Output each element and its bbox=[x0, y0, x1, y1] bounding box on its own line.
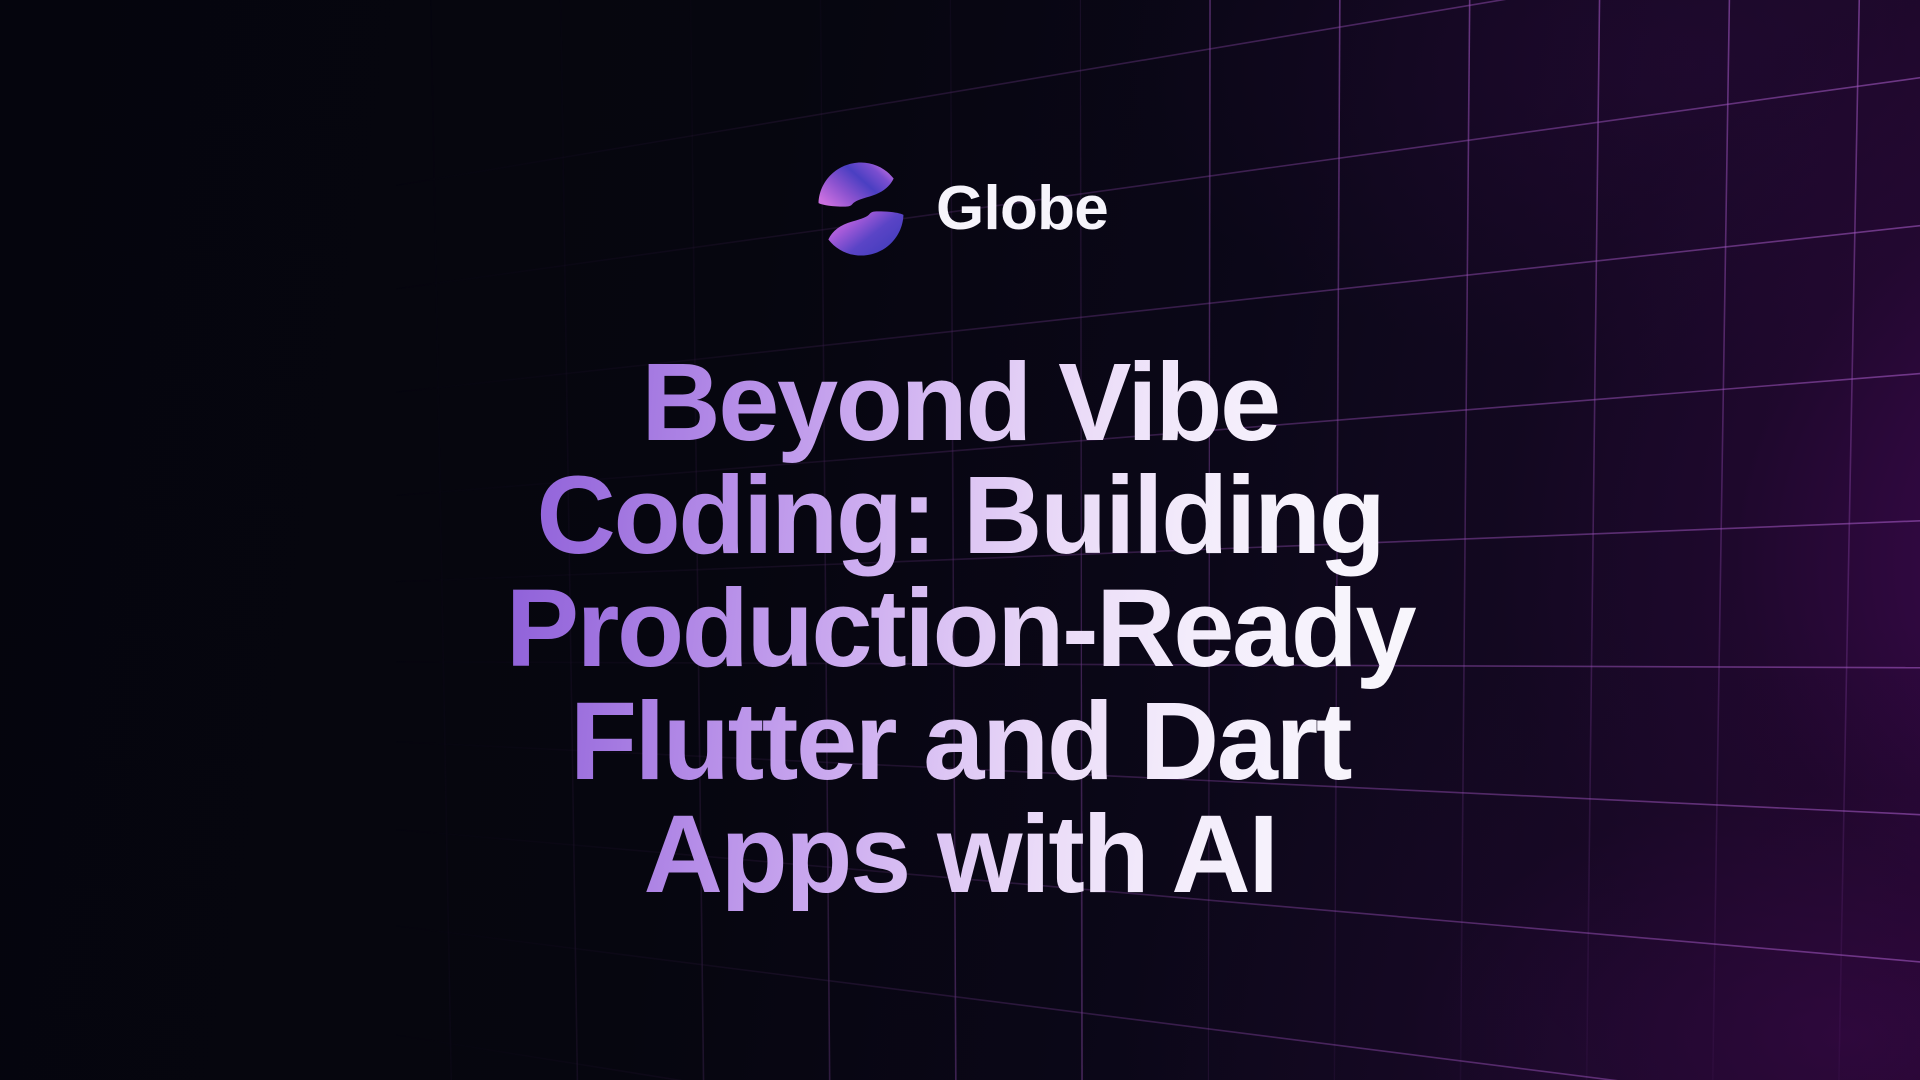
globe-s-mark-icon bbox=[812, 160, 910, 258]
brand-logo[interactable]: Globe bbox=[0, 160, 1920, 258]
page-title: Beyond Vibe Coding: Building Production-… bbox=[460, 346, 1460, 911]
hero-banner: Globe Beyond Vibe Coding: Building Produ… bbox=[0, 0, 1920, 1080]
brand-wordmark: Globe bbox=[936, 178, 1108, 240]
